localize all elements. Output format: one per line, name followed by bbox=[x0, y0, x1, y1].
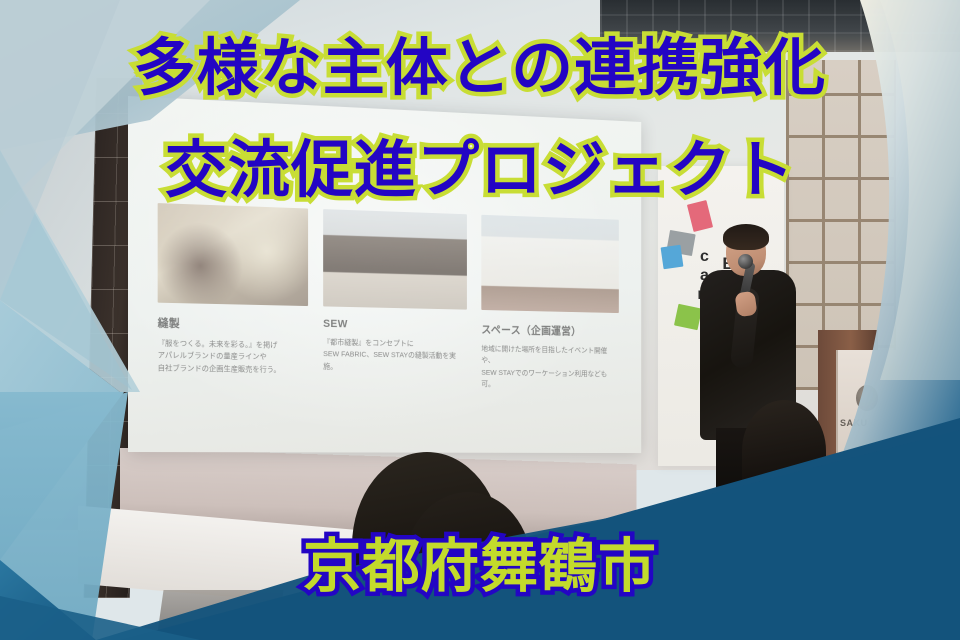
municipality-label: 京都府舞鶴市 bbox=[0, 538, 960, 596]
traditional-house-photo bbox=[323, 209, 467, 310]
slide-columns: 縫製 『服をつくる。未来を彩る。』を掲げ アパレルブランドの量産ラインや 自社ブ… bbox=[158, 203, 619, 392]
slide-column-body: 『都市縫製』をコンセプトに SEW FABRIC、SEW STAYの縫製活動を実… bbox=[323, 337, 467, 375]
slide-column-body: 地域に開けた場所を目指したイベント開催や、 SEW STAYでのワーケーション利… bbox=[481, 343, 619, 392]
white-building-photo bbox=[481, 215, 619, 313]
slide-column-body: 『服をつくる。未来を彩る。』を掲げ アパレルブランドの量産ラインや 自社ブランド… bbox=[158, 338, 308, 377]
slide-column-space: スペース（企画運営） 地域に開けた場所を目指したイベント開催や、 SEW STA… bbox=[481, 215, 619, 392]
cabinet-knob-icon bbox=[856, 385, 878, 411]
slide-column-title: スペース（企画運営） bbox=[481, 321, 619, 339]
presenter-hand bbox=[734, 291, 757, 318]
slide-column-title: SEW bbox=[323, 318, 467, 332]
cabinet-label: SAKU bbox=[840, 418, 868, 428]
presenter-hair bbox=[723, 224, 769, 250]
page-title-line-1: 多様な主体との連携強化 bbox=[0, 38, 960, 100]
table-leg bbox=[156, 590, 283, 640]
microphone-head-icon bbox=[738, 254, 753, 269]
audience-head-right bbox=[742, 400, 826, 502]
page-title-line-2: 交流促進プロジェクト bbox=[0, 140, 960, 202]
projected-slide-content: 縫製 『服をつくる。未来を彩る。』を掲げ アパレルブランドの量産ラインや 自社ブ… bbox=[158, 203, 619, 392]
slide-column-sew: SEW 『都市縫製』をコンセプトに SEW FABRIC、SEW STAYの縫製… bbox=[323, 209, 467, 390]
slide-thumbnail-image: SAKU 縫製 『服をつくる。未来を彩る。』を掲げ アパレルブランドの量産ライン… bbox=[0, 0, 960, 640]
slide-column-title: 縫製 bbox=[158, 315, 308, 334]
sewing-machine-photo bbox=[158, 203, 308, 306]
slide-column-sewing: 縫製 『服をつくる。未来を彩る。』を掲げ アパレルブランドの量産ラインや 自社ブ… bbox=[158, 203, 308, 388]
banner-chip-blue bbox=[661, 245, 684, 270]
left-wall-panel bbox=[0, 60, 100, 530]
